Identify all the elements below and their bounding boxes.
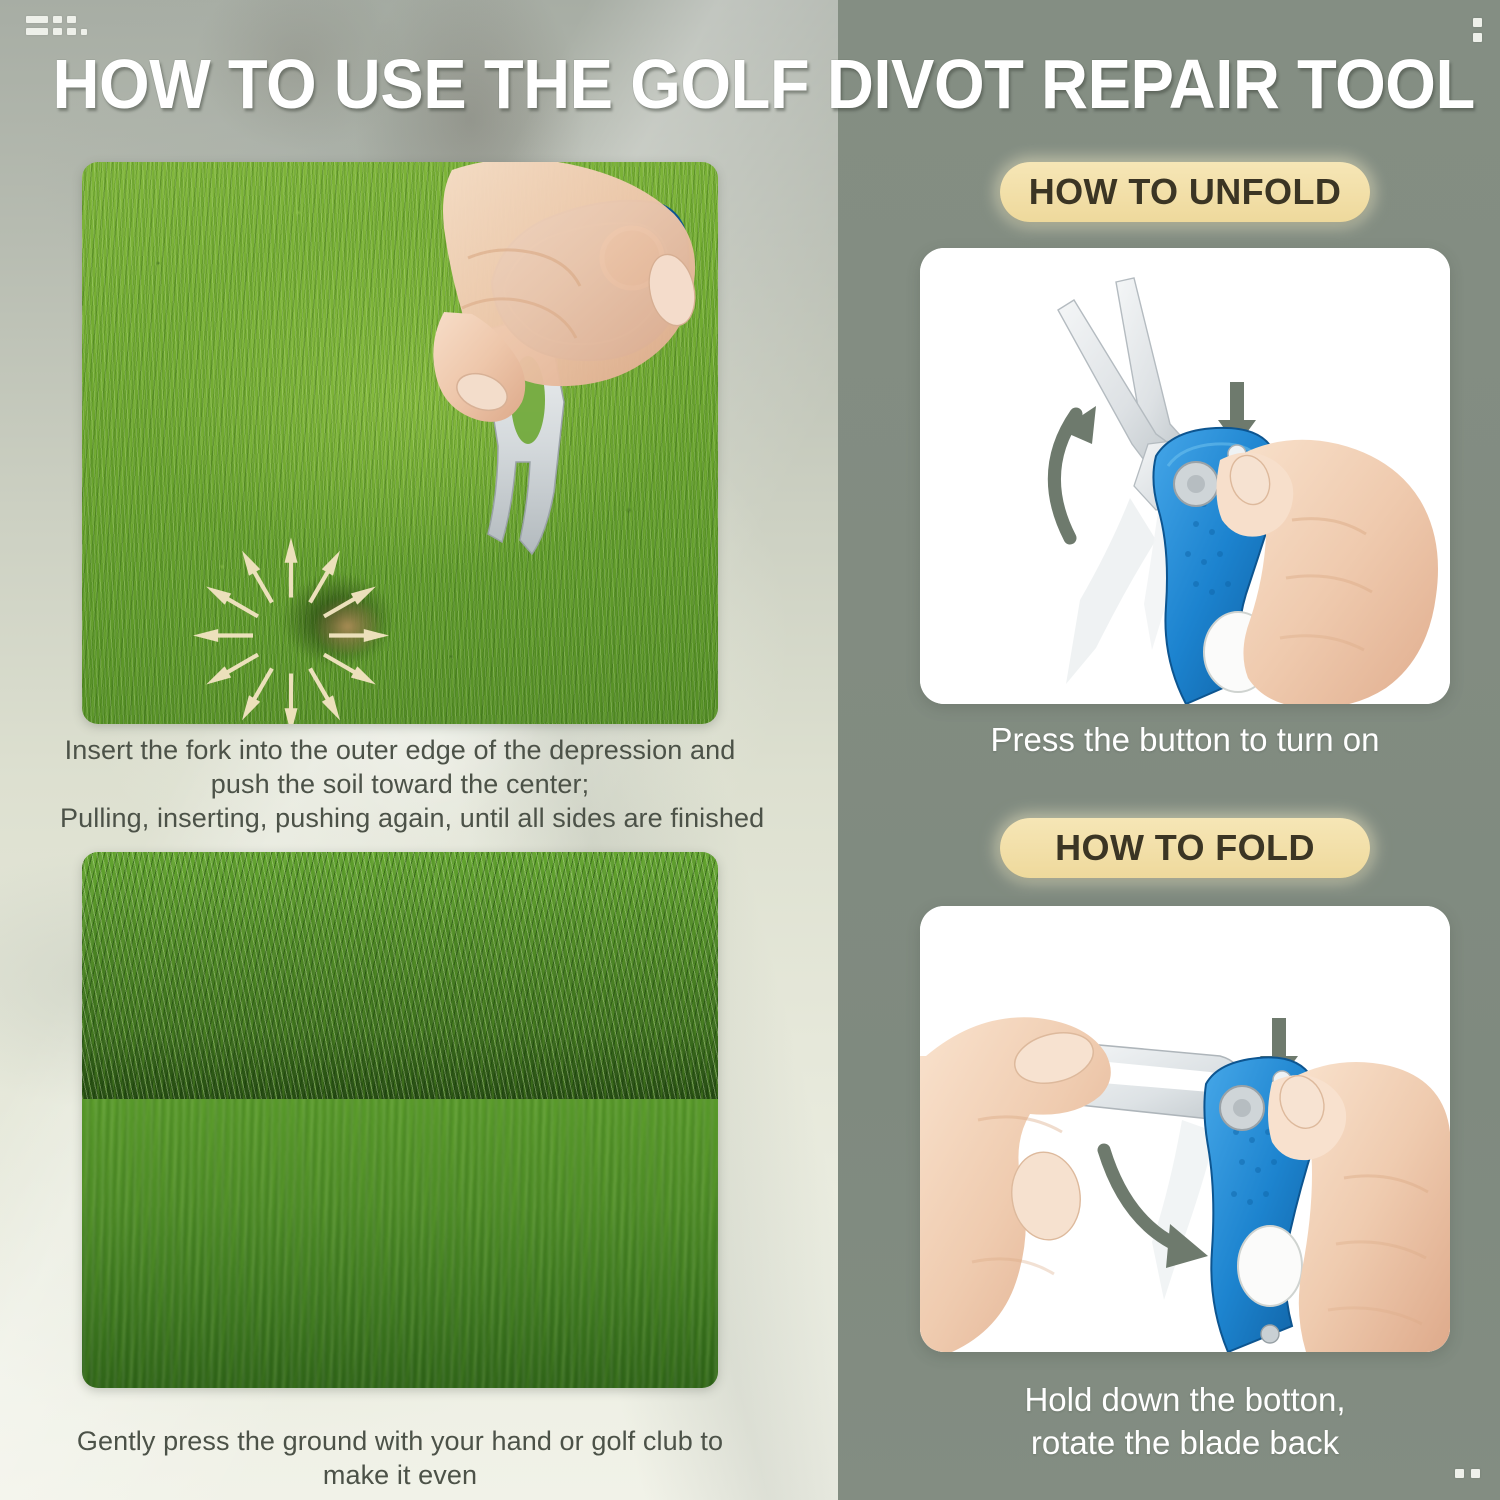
two-dots-icon[interactable] <box>1455 1469 1480 1478</box>
unfold-illustration <box>920 248 1450 704</box>
caption-line: Press the button to turn on <box>905 718 1465 761</box>
divot-repair-fork-in-grass-photo <box>82 162 718 724</box>
caption-unfold: Press the button to turn on <box>905 718 1465 761</box>
badge-how-to-fold: HOW TO FOLD <box>1000 818 1370 878</box>
caption-line: make it even <box>60 1458 740 1492</box>
grass-texture <box>82 852 718 1388</box>
unfold-tool-photo <box>920 248 1450 704</box>
caption-line: Insert the fork into the outer edge of t… <box>60 733 740 767</box>
infographic-page: HOW TO USE THE GOLF DIVOT REPAIR TOOL <box>0 0 1500 1500</box>
hand-with-divot-tool-illustration <box>332 162 718 622</box>
caption-step-2: Gently press the ground with your hand o… <box>60 1424 740 1492</box>
caption-line: Hold down the botton, <box>905 1378 1465 1421</box>
caption-fold: Hold down the botton, rotate the blade b… <box>905 1378 1465 1464</box>
fold-tool-photo <box>920 906 1450 1352</box>
caption-line: Gently press the ground with your hand o… <box>60 1424 740 1458</box>
smooth-green-turf-photo <box>82 852 718 1388</box>
caption-line: rotate the blade back <box>905 1421 1465 1464</box>
caption-line: push the soil toward the center; <box>60 767 740 801</box>
badge-how-to-unfold: HOW TO UNFOLD <box>1000 162 1370 222</box>
page-title: HOW TO USE THE GOLF DIVOT REPAIR TOOL <box>53 46 1448 122</box>
grid-menu-icon[interactable] <box>26 16 87 40</box>
caption-step-1: Insert the fork into the outer edge of t… <box>60 733 740 835</box>
kebab-menu-icon[interactable] <box>1473 18 1482 42</box>
caption-line: Pulling, inserting, pushing again, until… <box>60 801 740 835</box>
fold-illustration <box>920 906 1450 1352</box>
